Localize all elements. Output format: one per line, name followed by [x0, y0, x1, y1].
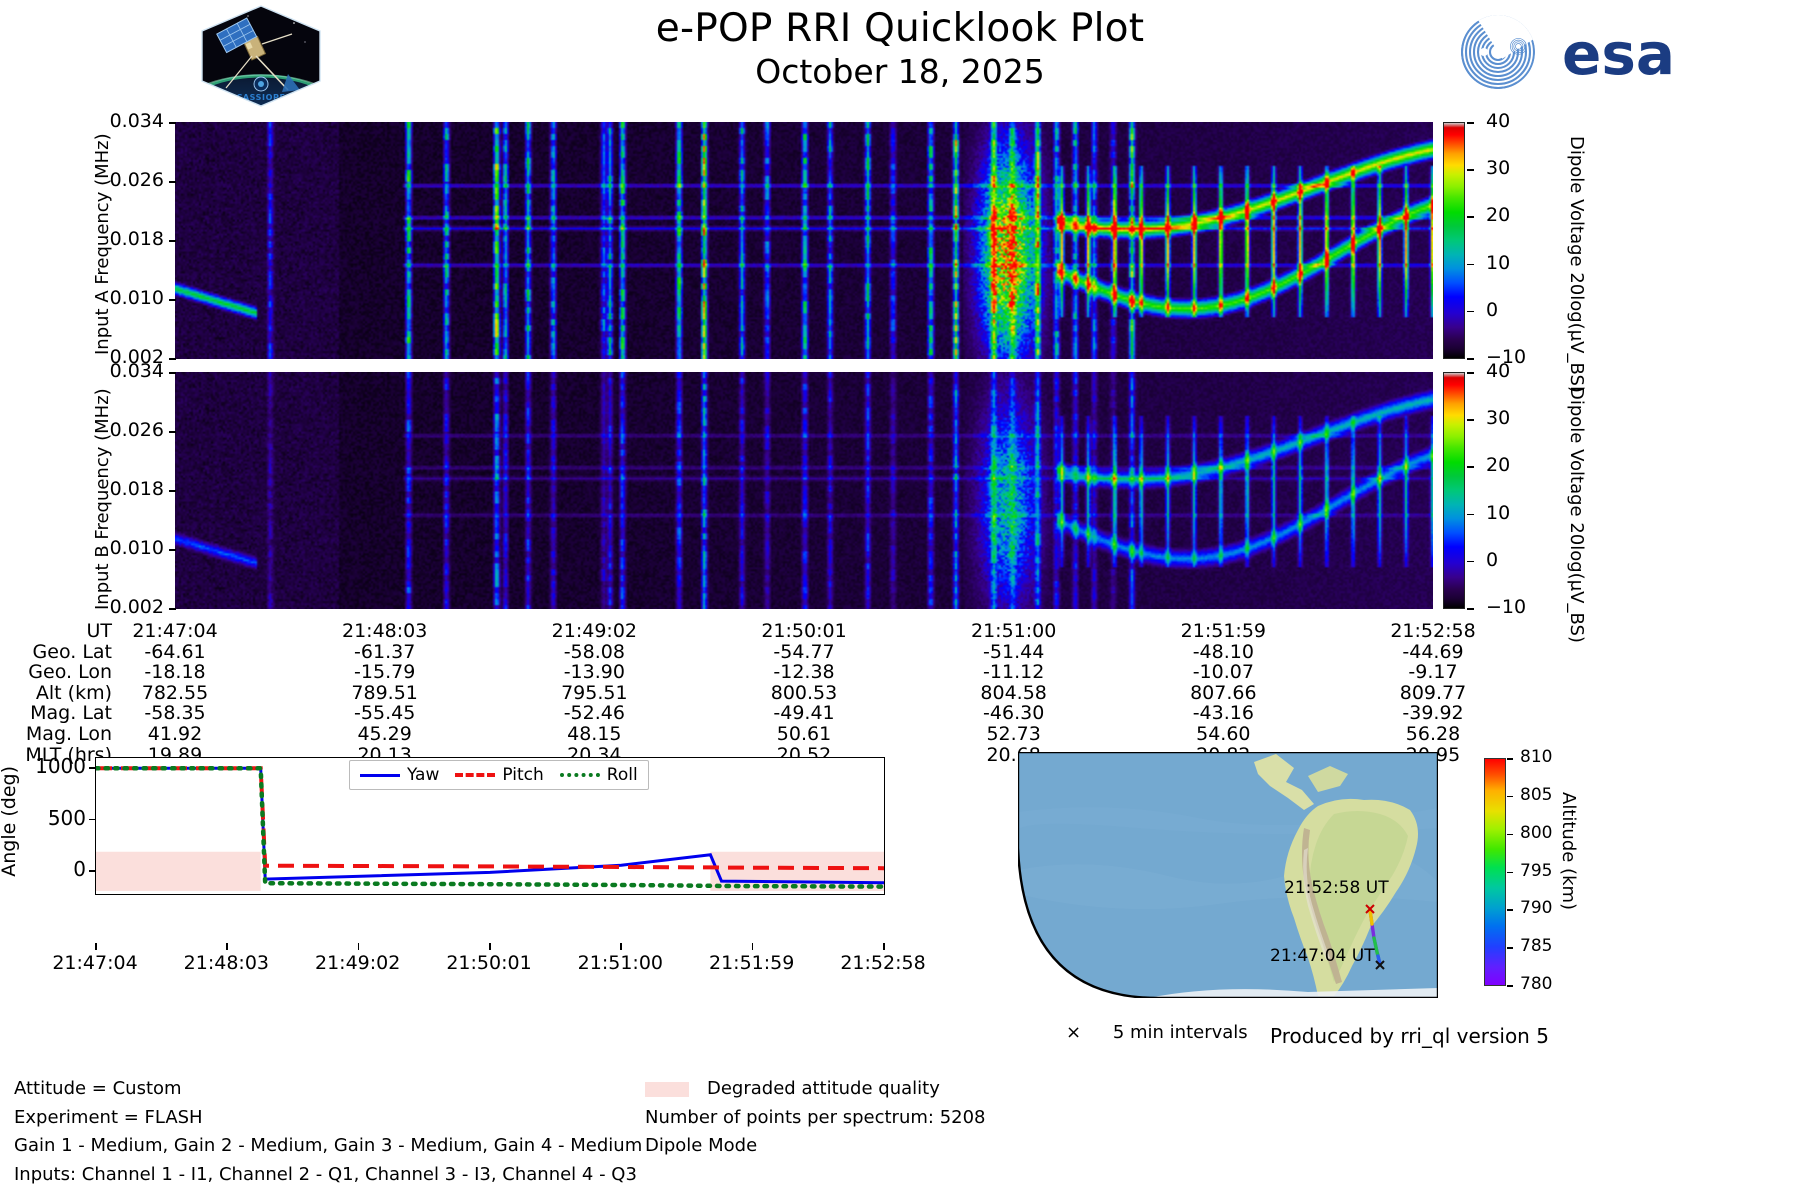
- attitude-ylabel: Angle (deg): [0, 766, 20, 877]
- ephemeris-cell: 56.28: [1358, 723, 1508, 745]
- ephemeris-cell: 41.92: [100, 723, 250, 745]
- colorbar-tick: 30: [1486, 157, 1510, 179]
- spectrogram-a-panel: [175, 122, 1433, 359]
- ytick-mark: [169, 490, 176, 492]
- ephemeris-cell: 804.58: [939, 682, 1089, 704]
- footer-left-text: Attitude = CustomExperiment = FLASHGain …: [14, 1075, 642, 1189]
- ephemeris-cell: -55.45: [310, 702, 460, 724]
- altitude-colorbar-label: Altitude (km): [1558, 792, 1579, 910]
- attitude-xtick: 21:51:00: [555, 952, 685, 974]
- ephemeris-table: UT21:47:0421:48:0321:49:0221:50:0121:51:…: [0, 620, 1490, 764]
- altitude-colorbar: [1484, 758, 1506, 986]
- dipole-mode: Dipole Mode: [645, 1132, 986, 1161]
- ytick-mark: [169, 431, 176, 433]
- colorbar-tick-mark: [1467, 169, 1474, 171]
- altitude-tick: 800: [1520, 823, 1552, 843]
- attitude-xtick: 21:51:59: [687, 952, 817, 974]
- footer-line: Inputs: Channel 1 - I1, Channel 2 - Q1, …: [14, 1161, 642, 1190]
- ephemeris-cell: -13.90: [519, 661, 669, 683]
- ytick-mark: [169, 372, 176, 374]
- ephemeris-cell: -12.38: [729, 661, 879, 683]
- ytick-mark: [169, 549, 176, 551]
- map-axes: [1018, 752, 1438, 998]
- ytick-mark: [169, 358, 176, 360]
- colorbar-tick: 0: [1486, 299, 1498, 321]
- colorbar-tick: 30: [1486, 407, 1510, 429]
- legend-label: Yaw: [407, 765, 439, 785]
- title-subtitle: October 18, 2025: [500, 52, 1300, 92]
- ephemeris-cell: -54.77: [729, 641, 879, 663]
- esa-logo-icon: esa: [1450, 12, 1690, 90]
- ephemeris-cell: -15.79: [310, 661, 460, 683]
- ephemeris-row-label: UT: [0, 620, 112, 642]
- spectrogram-b-ytick: 0.026: [78, 419, 164, 441]
- attitude-ytick: 0: [30, 857, 86, 881]
- colorbar-tick-mark: [1467, 514, 1474, 516]
- ephemeris-cell: 54.60: [1148, 723, 1298, 745]
- cassiope-mission-patch-icon: CASSIOPE: [196, 4, 326, 108]
- legend-swatch-pitch: [455, 773, 495, 777]
- attitude-ytick-mark: [89, 870, 96, 872]
- ephemeris-row: UT21:47:0421:48:0321:49:0221:50:0121:51:…: [0, 620, 1490, 641]
- spectrogram-b-panel: [175, 372, 1433, 609]
- altitude-tick: 790: [1520, 898, 1552, 918]
- ephemeris-cell: 21:51:00: [939, 620, 1089, 642]
- spectrogram-b-ytick: 0.002: [78, 596, 164, 618]
- attitude-xtick: 21:50:01: [424, 952, 554, 974]
- colorbar-tick-mark: [1467, 419, 1474, 421]
- ephemeris-cell: -49.41: [729, 702, 879, 724]
- legend-label: Pitch: [502, 765, 543, 785]
- spectrogram-a-ytick: 0.034: [78, 110, 164, 132]
- colorbar-a-label: Dipole Voltage 20log(μV_BS): [1566, 136, 1587, 346]
- attitude-ytick-mark: [89, 819, 96, 821]
- ephemeris-cell: 48.15: [519, 723, 669, 745]
- ytick-mark: [169, 299, 176, 301]
- legend-swatch-yaw: [360, 774, 400, 777]
- attitude-xtick: 21:52:58: [818, 952, 948, 974]
- ephemeris-cell: 52.73: [939, 723, 1089, 745]
- attitude-xtick-mark: [358, 943, 360, 950]
- ephemeris-cell: -58.08: [519, 641, 669, 663]
- colorbar-tick: 10: [1486, 252, 1510, 274]
- altitude-tick-mark: [1507, 796, 1513, 798]
- altitude-tick-mark: [1507, 758, 1513, 760]
- ephemeris-cell: 45.29: [310, 723, 460, 745]
- ground-track-map: 21:47:04 UT 21:52:58 UT × 5 min interval…: [1018, 752, 1800, 1192]
- altitude-tick-mark: [1507, 985, 1513, 987]
- colorbar-tick-mark: [1467, 264, 1474, 266]
- legend-item-roll[interactable]: Roll: [560, 765, 638, 785]
- ephemeris-cell: -51.44: [939, 641, 1089, 663]
- legend-swatch-roll: [560, 773, 600, 777]
- ephemeris-cell: 800.53: [729, 682, 879, 704]
- header: CASSIOPE e-POP RRI Quicklook Plot Octobe…: [0, 0, 1800, 110]
- points-per-spectrum: Number of points per spectrum: 5208: [645, 1104, 986, 1133]
- attitude-xtick-mark: [95, 943, 97, 950]
- ytick-mark: [169, 608, 176, 610]
- ephemeris-cell: 50.61: [729, 723, 879, 745]
- ephemeris-cell: 21:49:02: [519, 620, 669, 642]
- colorbar-tick: 40: [1486, 110, 1510, 132]
- colorbar-tick-mark: [1467, 466, 1474, 468]
- degraded-legend-row: Degraded attitude quality: [645, 1075, 986, 1104]
- map-start-label: 21:47:04 UT: [1270, 946, 1375, 966]
- altitude-tick: 810: [1520, 747, 1552, 767]
- degraded-quality-label: Degraded attitude quality: [707, 1078, 940, 1099]
- ephemeris-cell: -48.10: [1148, 641, 1298, 663]
- ephemeris-cell: 807.66: [1148, 682, 1298, 704]
- colorbar-tick-mark: [1467, 122, 1474, 124]
- colorbar-tick-mark: [1467, 358, 1474, 360]
- ephemeris-cell: -64.61: [100, 641, 250, 663]
- colorbar-tick-mark: [1467, 311, 1474, 313]
- ephemeris-row: Alt (km)782.55789.51795.51800.53804.5880…: [0, 682, 1490, 703]
- colorbar-tick: 10: [1486, 502, 1510, 524]
- ytick-mark: [169, 122, 176, 124]
- degraded-quality-region: [96, 852, 261, 891]
- attitude-legend: YawPitchRoll: [349, 760, 649, 790]
- colorbar-tick: 0: [1486, 549, 1498, 571]
- spectrogram-a-ytick: 0.026: [78, 169, 164, 191]
- ephemeris-row: Geo. Lon-18.18-15.79-13.90-12.38-11.12-1…: [0, 661, 1490, 682]
- ephemeris-row-label: Mag. Lon: [0, 723, 112, 745]
- map-graphic: [1018, 752, 1438, 998]
- produced-by-label: Produced by rri_ql version 5: [1270, 1024, 1549, 1048]
- colorbar-tick: 40: [1486, 360, 1510, 382]
- colorbar-b-label: Dipole Voltage 20log(μV_BS): [1566, 386, 1587, 596]
- footer-line: Gain 1 - Medium, Gain 2 - Medium, Gain 3…: [14, 1132, 642, 1161]
- attitude-xtick-mark: [226, 943, 228, 950]
- ephemeris-cell: 789.51: [310, 682, 460, 704]
- ephemeris-cell: 21:48:03: [310, 620, 460, 642]
- ephemeris-cell: 795.51: [519, 682, 669, 704]
- map-clip: [1018, 752, 1438, 998]
- ephemeris-cell: 21:50:01: [729, 620, 879, 642]
- attitude-plot: Angle (deg) YawPitchRoll: [0, 752, 1010, 932]
- colorbar-tick-mark: [1467, 216, 1474, 218]
- ephemeris-cell: 21:47:04: [100, 620, 250, 642]
- attitude-xtick-mark: [620, 943, 622, 950]
- ephemeris-cell: -11.12: [939, 661, 1089, 683]
- altitude-tick: 805: [1520, 785, 1552, 805]
- attitude-ytick-mark: [89, 767, 96, 769]
- spectrogram-b-ytick: 0.010: [78, 537, 164, 559]
- ephemeris-cell: -44.69: [1358, 641, 1508, 663]
- legend-label: Roll: [607, 765, 638, 785]
- altitude-tick-mark: [1507, 947, 1513, 949]
- ephemeris-row-label: Geo. Lat: [0, 641, 112, 663]
- ephemeris-cell: -39.92: [1358, 702, 1508, 724]
- ephemeris-cell: -46.30: [939, 702, 1089, 724]
- ephemeris-cell: -52.46: [519, 702, 669, 724]
- ephemeris-cell: -61.37: [310, 641, 460, 663]
- colorbar-a: [1443, 122, 1465, 359]
- spectrogram-a-ytick: 0.010: [78, 287, 164, 309]
- ephemeris-cell: 782.55: [100, 682, 250, 704]
- ephemeris-row-label: Alt (km): [0, 682, 112, 704]
- ephemeris-cell: -58.35: [100, 702, 250, 724]
- attitude-xtick-mark: [883, 943, 885, 950]
- colorbar-tick: −10: [1486, 596, 1526, 618]
- ephemeris-cell: 21:52:58: [1358, 620, 1508, 642]
- colorbar-tick-mark: [1467, 608, 1474, 610]
- colorbar-tick-mark: [1467, 561, 1474, 563]
- ephemeris-row-label: Mag. Lat: [0, 702, 112, 724]
- ephemeris-cell: -18.18: [100, 661, 250, 683]
- interval-marker-icon: ×: [1066, 1022, 1081, 1043]
- attitude-ytick: 500: [30, 806, 86, 830]
- ephemeris-row: Mag. Lon41.9245.2948.1550.6152.7354.6056…: [0, 723, 1490, 744]
- map-interval-legend: × 5 min intervals: [1066, 1022, 1248, 1043]
- attitude-xtick: 21:48:03: [161, 952, 291, 974]
- attitude-xtick: 21:47:04: [30, 952, 160, 974]
- attitude-xtick-mark: [752, 943, 754, 950]
- ephemeris-cell: 21:51:59: [1148, 620, 1298, 642]
- spectrogram-b-ytick: 0.034: [78, 360, 164, 382]
- attitude-xtick: 21:49:02: [293, 952, 423, 974]
- attitude-xtick-mark: [489, 943, 491, 950]
- map-end-label: 21:52:58 UT: [1284, 878, 1389, 898]
- degraded-quality-swatch: [645, 1082, 689, 1097]
- altitude-tick-mark: [1507, 834, 1513, 836]
- svg-text:CASSIOPE: CASSIOPE: [236, 93, 285, 102]
- esa-wordmark: esa: [1562, 20, 1675, 88]
- altitude-tick: 785: [1520, 936, 1552, 956]
- spectrogram-a-ytick: 0.018: [78, 228, 164, 250]
- footer-line: Attitude = Custom: [14, 1075, 642, 1104]
- altitude-tick-mark: [1507, 909, 1513, 911]
- ephemeris-row: Mag. Lat-58.35-55.45-52.46-49.41-46.30-4…: [0, 702, 1490, 723]
- spectrogram-b-ytick: 0.018: [78, 478, 164, 500]
- colorbar-tick: 20: [1486, 204, 1510, 226]
- altitude-tick: 795: [1520, 861, 1552, 881]
- ephemeris-cell: -9.17: [1358, 661, 1508, 683]
- page-title: e-POP RRI Quicklook Plot October 18, 202…: [500, 6, 1300, 92]
- altitude-tick-mark: [1507, 872, 1513, 874]
- altitude-tick: 780: [1520, 974, 1552, 994]
- footer-middle-text: Degraded attitude quality Number of poin…: [645, 1075, 986, 1161]
- ephemeris-cell: -43.16: [1148, 702, 1298, 724]
- ephemeris-row: Geo. Lat-64.61-61.37-58.08-54.77-51.44-4…: [0, 641, 1490, 662]
- ytick-mark: [169, 181, 176, 183]
- colorbar-b: [1443, 372, 1465, 609]
- colorbar-tick: 20: [1486, 454, 1510, 476]
- ytick-mark: [169, 240, 176, 242]
- colorbar-tick-mark: [1467, 372, 1474, 374]
- legend-item-pitch[interactable]: Pitch: [455, 765, 543, 785]
- interval-legend-label: 5 min intervals: [1113, 1022, 1248, 1043]
- ephemeris-row-label: Geo. Lon: [0, 661, 112, 683]
- footer-line: Experiment = FLASH: [14, 1104, 642, 1133]
- ephemeris-cell: 809.77: [1358, 682, 1508, 704]
- title-main: e-POP RRI Quicklook Plot: [500, 6, 1300, 52]
- ephemeris-cell: -10.07: [1148, 661, 1298, 683]
- legend-item-yaw[interactable]: Yaw: [360, 765, 439, 785]
- attitude-ytick: 1000: [30, 754, 86, 778]
